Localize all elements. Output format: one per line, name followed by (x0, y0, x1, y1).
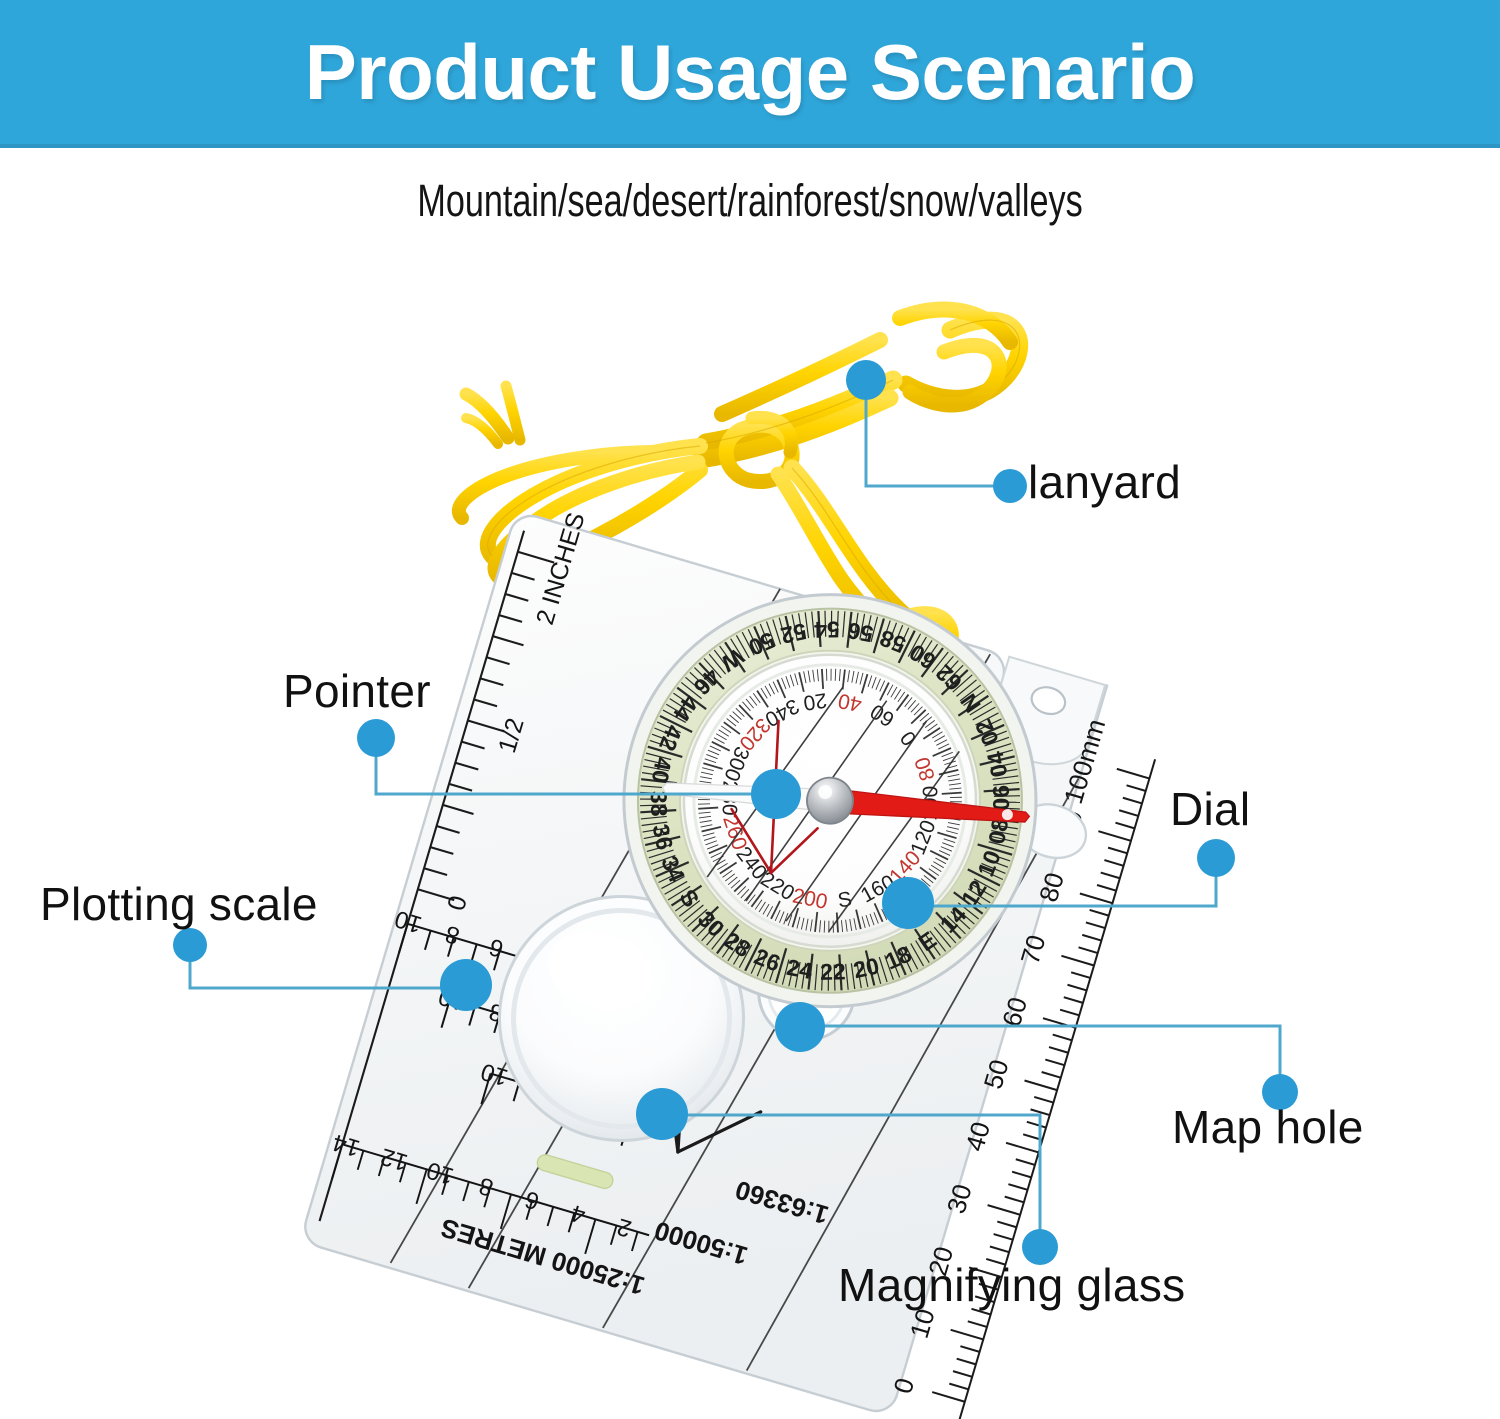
dot-map-hole-anchor (775, 1002, 825, 1052)
dot-plotting-scale-anchor (440, 959, 492, 1011)
svg-text:54: 54 (814, 617, 840, 643)
dot-plotting-scale-label (173, 928, 207, 962)
svg-text:20: 20 (851, 952, 882, 983)
svg-text:40: 40 (647, 755, 677, 785)
dot-lanyard-anchor (846, 360, 886, 400)
callout-label-map-hole: Map hole (1172, 1100, 1364, 1154)
dot-lanyard-label (993, 469, 1027, 503)
product-illustration: 2 INCHES 1/2 0 (0, 0, 1500, 1419)
dot-pointer-label (357, 719, 395, 757)
callout-label-lanyard: lanyard (1028, 455, 1181, 509)
callout-label-plotting-scale: Plotting scale (40, 877, 318, 931)
svg-text:40: 40 (836, 689, 863, 716)
svg-text:52: 52 (778, 618, 809, 649)
dot-magnifier-anchor (636, 1088, 688, 1140)
svg-text:56: 56 (845, 617, 875, 647)
dot-dial-label (1197, 839, 1235, 877)
callout-label-magnifying-glass: Magnifying glass (838, 1258, 1185, 1312)
svg-text:24: 24 (785, 954, 815, 984)
svg-text:06: 06 (988, 785, 1014, 811)
callout-label-dial: Dial (1170, 782, 1250, 836)
svg-text:22: 22 (820, 958, 846, 984)
dot-pointer-anchor (751, 769, 801, 819)
svg-text:36: 36 (647, 822, 678, 853)
dot-dial-anchor (882, 877, 934, 929)
svg-text:20: 20 (802, 688, 829, 714)
callout-label-pointer: Pointer (283, 664, 431, 718)
